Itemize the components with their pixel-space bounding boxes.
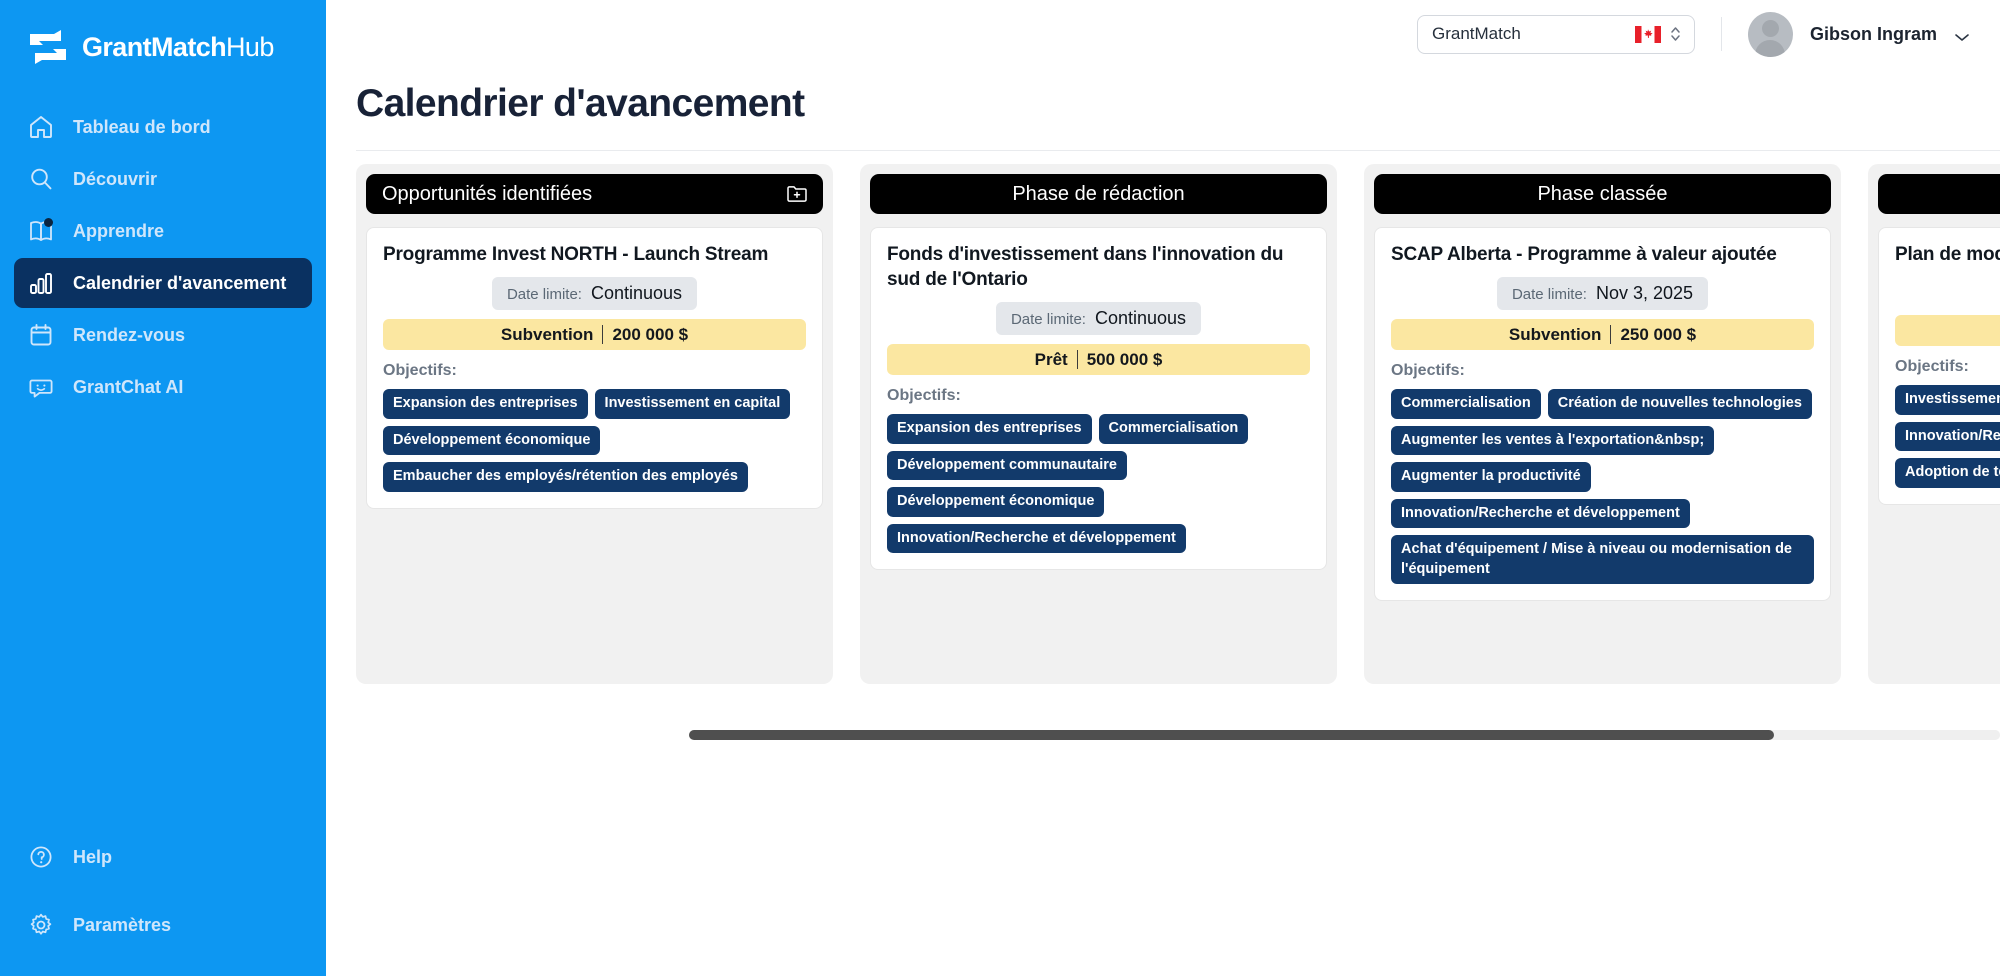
opportunity-card[interactable]: Plan de modernisation des outils numériq… [1878,227,2000,505]
funding-type: Subvention [1509,325,1602,345]
brand-name: GrantMatchHub [82,32,274,63]
deadline-label: Date limite: [1512,286,1587,303]
org-selector-value: GrantMatch [1432,24,1635,44]
deadline-row: Date limite: Continuous [383,277,806,310]
column-title: Phase de rédaction [1012,183,1184,206]
scrollbar-thumb[interactable] [689,730,1774,740]
deadline-value: Nov 3, 2025 [1596,283,1693,304]
kanban-column: P Plan de modernisation des outils numér… [1868,164,2000,684]
sidebar-item-label: Tableau de bord [73,117,211,138]
sidebar-item-label: Rendez-vous [73,325,185,346]
opportunity-card[interactable]: SCAP Alberta - Programme à valeur ajouté… [1374,227,1831,601]
objectives-label: Objectifs: [1391,362,1814,380]
objective-tag: Investissement en capital [595,389,791,419]
deadline-value: Continuous [591,283,682,304]
canada-flag-icon [1635,26,1661,43]
main-area: GrantMatch Gibson Ingram [326,0,2000,976]
objectives-label: Objectifs: [1895,358,2000,376]
board-scroll-row [326,686,2000,726]
objective-tag: Commercialisation [1099,414,1249,444]
chat-smile-icon [28,374,54,400]
topbar-divider [1721,17,1722,51]
objective-tag: Développement économique [383,426,600,456]
funding-amount: 200 000 $ [612,325,688,345]
deadline-label: Date limite: [507,286,582,303]
column-title: Phase classée [1537,183,1667,206]
sidebar-bottom-nav: Help Paramètres [0,832,326,976]
deadline-badge: Date limite: Continuous [996,302,1201,335]
board-horizontal-scrollbar[interactable] [689,730,2000,740]
funding-type: Subvention [501,325,594,345]
sidebar-item-tableau-de-bord[interactable]: Tableau de bord [14,102,312,152]
objective-tags: Expansion des entreprises Investissement… [383,389,806,492]
opportunity-card[interactable]: Fonds d'investissement dans l'innovation… [870,227,1327,570]
funding-divider [1610,325,1611,344]
column-header: P [1878,174,2000,214]
app-root: GrantMatchHub Tableau de bord Découvrir [0,0,2000,976]
funding-amount: 500 000 $ [1087,350,1163,370]
card-title: Plan de modernisation des outils numériq… [1895,242,2000,267]
notification-dot [44,218,53,227]
sidebar-item-apprendre[interactable]: Apprendre [14,206,312,256]
funding-badge: Prêt 500 000 $ [887,344,1310,375]
objective-tag: Commercialisation [1391,389,1541,419]
board-wrapper: Opportunités identifiées Programme Inves… [326,151,2000,976]
up-down-chevron-icon [1669,24,1682,44]
sidebar: GrantMatchHub Tableau de bord Découvrir [0,0,326,976]
sidebar-item-rendez-vous[interactable]: Rendez-vous [14,310,312,360]
objectives-label: Objectifs: [887,387,1310,405]
column-title: Opportunités identifiées [382,183,592,206]
sidebar-item-label: Apprendre [73,221,164,242]
kanban-column: Phase de rédaction Fonds d'investissemen… [860,164,1337,684]
brand[interactable]: GrantMatchHub [0,0,326,72]
deadline-row: Da [1895,277,2000,306]
deadline-label: Date limite: [1011,311,1086,328]
objective-tag: Adoption de technologies [1895,458,2000,488]
sidebar-item-label: GrantChat AI [73,377,183,398]
objective-tag: Investissement en capital [1895,385,2000,415]
sidebar-item-help[interactable]: Help [14,832,312,882]
sidebar-item-label: Calendrier d'avancement [73,273,286,294]
kanban-board: Opportunités identifiées Programme Inves… [326,151,2000,686]
objective-tag: Innovation/Recherche et développement [1895,422,2000,452]
funding-type: Prêt [1035,350,1068,370]
calendar-icon [28,322,54,348]
search-icon [28,166,54,192]
deadline-row: Date limite: Continuous [887,302,1310,335]
objective-tag: Expansion des entreprises [887,414,1092,444]
grantmatch-logo-icon [27,30,69,64]
card-title: Fonds d'investissement dans l'innovation… [887,242,1310,292]
sidebar-item-calendrier-davancement[interactable]: Calendrier d'avancement [14,258,312,308]
column-header: Phase classée [1374,174,1831,214]
card-title: Programme Invest NORTH - Launch Stream [383,242,806,267]
objective-tag: Expansion des entreprises [383,389,588,419]
objective-tag: Développement économique [887,487,1104,517]
sidebar-item-parametres[interactable]: Paramètres [14,900,312,950]
folder-plus-icon[interactable] [786,183,808,205]
objective-tags: Expansion des entreprises Commercialisat… [887,414,1310,553]
home-icon [28,114,54,140]
objective-tags: Investissement en capital Innovation/Rec… [1895,385,2000,488]
sidebar-item-label: Découvrir [73,169,157,190]
avatar-icon [1748,12,1793,57]
kanban-column: Phase classée SCAP Alberta - Programme à… [1364,164,1841,684]
funding-amount: 250 000 $ [1620,325,1696,345]
sidebar-nav: Tableau de bord Découvrir Apprendre [0,102,326,412]
sidebar-item-grantchat-ai[interactable]: GrantChat AI [14,362,312,412]
topbar: GrantMatch Gibson Ingram [326,0,2000,68]
question-circle-icon [28,844,54,870]
sidebar-item-label: Paramètres [73,915,171,936]
funding-badge: Su [1895,315,2000,346]
deadline-badge: Date limite: Continuous [492,277,697,310]
book-icon [28,218,54,244]
objective-tag: Achat d'équipement / Mise à niveau ou mo… [1391,535,1814,584]
opportunity-card[interactable]: Programme Invest NORTH - Launch Stream D… [366,227,823,509]
gear-icon [28,912,54,938]
user-name: Gibson Ingram [1810,24,1937,45]
funding-divider [1077,350,1078,369]
org-selector[interactable]: GrantMatch [1417,15,1695,54]
funding-divider [602,325,603,344]
objective-tag: Innovation/Recherche et développement [887,524,1186,554]
objective-tag: Développement communautaire [887,451,1127,481]
chevron-down-icon [1954,29,1970,39]
objective-tag: Création de nouvelles technologies [1548,389,1812,419]
deadline-value: Continuous [1095,308,1186,329]
objective-tag: Innovation/Recherche et développement [1391,499,1690,529]
column-header: Opportunités identifiées [366,174,823,214]
column-header: Phase de rédaction [870,174,1327,214]
objective-tag: Augmenter la productivité [1391,462,1591,492]
card-title: SCAP Alberta - Programme à valeur ajouté… [1391,242,1814,267]
user-menu[interactable]: Gibson Ingram [1748,12,1970,57]
sidebar-item-label: Help [73,847,112,868]
objective-tags: Commercialisation Création de nouvelles … [1391,389,1814,584]
funding-badge: Subvention 200 000 $ [383,319,806,350]
deadline-row: Date limite: Nov 3, 2025 [1391,277,1814,310]
objectives-label: Objectifs: [383,362,806,380]
objective-tag: Embaucher des employés/rétention des emp… [383,462,748,492]
sidebar-item-decouvrir[interactable]: Découvrir [14,154,312,204]
kanban-column: Opportunités identifiées Programme Inves… [356,164,833,684]
bar-chart-icon [28,270,54,296]
deadline-badge: Date limite: Nov 3, 2025 [1497,277,1708,310]
page-title: Calendrier d'avancement [326,68,2000,126]
funding-badge: Subvention 250 000 $ [1391,319,1814,350]
objective-tag: Augmenter les ventes à l'exportation&nbs… [1391,426,1714,456]
